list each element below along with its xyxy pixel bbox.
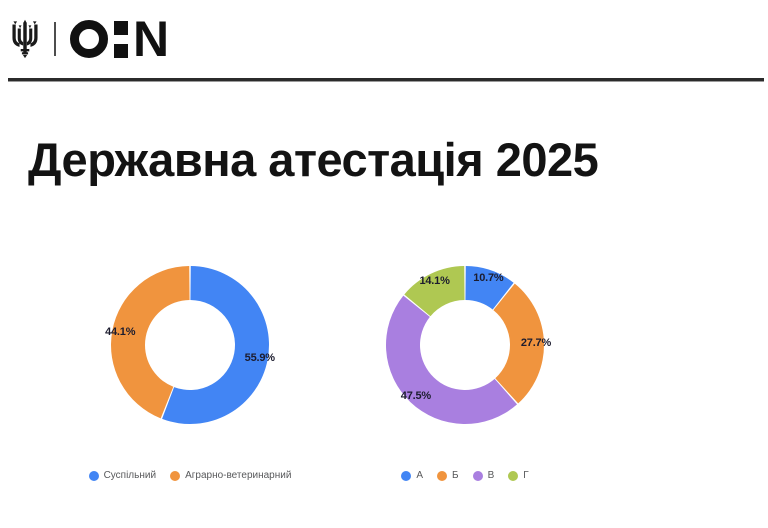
legend-swatch-icon <box>508 471 518 481</box>
brand-logo: N <box>8 14 168 64</box>
legend-swatch-icon <box>170 471 180 481</box>
donut-slice-label: 47.5% <box>401 390 431 402</box>
wordmark-o-icon <box>70 20 108 58</box>
legend-swatch-icon <box>437 471 447 481</box>
legend-label: А <box>416 470 423 481</box>
donut-graphic-faculty: 55.9%44.1% <box>107 262 273 428</box>
page-title: Державна атестація 2025 <box>28 132 748 187</box>
legend-label: В <box>488 470 495 481</box>
donut-slices-faculty <box>111 266 269 424</box>
donut-slice-label: 27.7% <box>521 337 551 349</box>
donut-slice[interactable] <box>386 296 517 424</box>
brand-divider <box>54 22 56 56</box>
charts-container: 55.9%44.1% СуспільнийАграрно-ветеринарни… <box>0 248 768 518</box>
donut-slice-label: 55.9% <box>245 352 275 364</box>
wordmark-n-letter: N <box>133 21 168 57</box>
donut-slice-label: 14.1% <box>419 275 449 287</box>
legend-item[interactable]: А <box>401 470 423 481</box>
legend-swatch-icon <box>473 471 483 481</box>
donut-slice-label: 10.7% <box>473 272 503 284</box>
legend-item[interactable]: Г <box>508 470 528 481</box>
trident-icon <box>8 19 42 59</box>
donut-slice-label: 44.1% <box>105 326 135 338</box>
legend-label: Суспільний <box>104 470 157 481</box>
on-wordmark: N <box>70 17 168 61</box>
donut-graphic-grades: 10.7%27.7%47.5%14.1% <box>382 262 548 428</box>
legend-item[interactable]: Суспільний <box>89 470 157 481</box>
legend-label: Б <box>452 470 459 481</box>
legend-label: Аграрно-ветеринарний <box>185 470 291 481</box>
legend-swatch-icon <box>89 471 99 481</box>
page-header: N <box>0 0 768 80</box>
legend-grades: АБВГ <box>300 470 630 481</box>
wordmark-colon-icon <box>114 21 128 58</box>
header-divider-rule <box>8 78 764 81</box>
legend-item[interactable]: Аграрно-ветеринарний <box>170 470 291 481</box>
legend-label: Г <box>523 470 528 481</box>
legend-swatch-icon <box>401 471 411 481</box>
legend-item[interactable]: В <box>473 470 495 481</box>
legend-item[interactable]: Б <box>437 470 459 481</box>
donut-chart-grades: 10.7%27.7%47.5%14.1% АБВГ <box>300 248 630 518</box>
